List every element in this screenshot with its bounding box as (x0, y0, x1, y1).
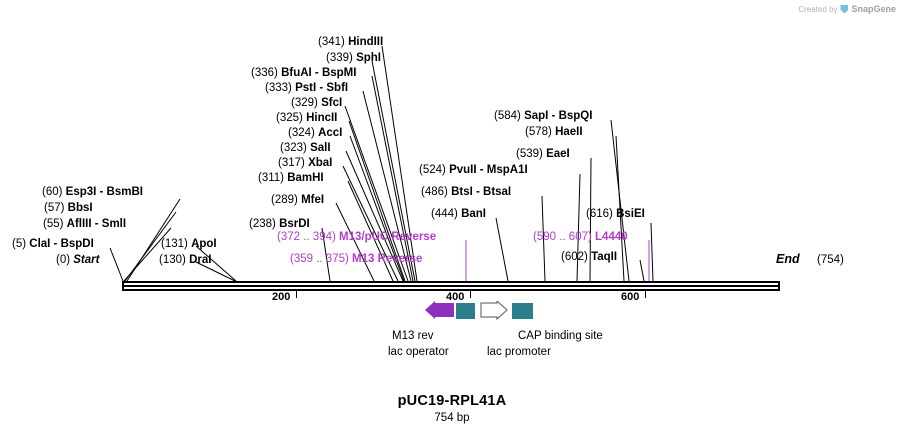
enzyme-position: (289) (271, 194, 298, 206)
enzyme-name: SapI - BspQI (524, 110, 592, 122)
title-block: pUC19-RPL41A 754 bp (0, 393, 904, 424)
enzyme-name: SalI (310, 142, 330, 154)
enzyme-position: (317) (278, 157, 305, 169)
annotation-label-l4440[interactable]: (590 .. 607) L4440 (533, 231, 628, 244)
enzyme-position: (325) (276, 112, 303, 124)
enzyme-position: (539) (516, 148, 543, 160)
feature-glyph-m13-rev[interactable] (425, 301, 455, 325)
enzyme-position: (333) (265, 82, 292, 94)
end-position: (754) (817, 254, 844, 266)
enzyme-label-HaeII[interactable]: (578) HaeII (525, 126, 583, 139)
enzyme-label-PstI[interactable]: (333) PstI - SbfI (265, 82, 348, 95)
enzyme-label-BsiEI[interactable]: (616) BsiEI (586, 208, 645, 221)
enzyme-label-SapI[interactable]: (584) SapI - BspQI (494, 110, 592, 123)
enzyme-position: (616) (586, 208, 613, 220)
feature-label-lac-operator[interactable]: lac operator (388, 346, 449, 358)
enzyme-name: XbaI (308, 157, 332, 169)
end-label: End (776, 252, 800, 266)
enzyme-label-AflIII[interactable]: (55) AflIII - SmlI (43, 218, 126, 231)
enzyme-position: (130) (159, 254, 186, 266)
enzyme-label-BbsI[interactable]: (57) BbsI (44, 202, 93, 215)
enzyme-position: (578) (525, 126, 552, 138)
enzyme-label-HincII[interactable]: (325) HincII (276, 112, 337, 125)
enzyme-position: (323) (280, 142, 307, 154)
enzyme-name: Start (73, 254, 99, 266)
enzyme-position: (584) (494, 110, 521, 122)
tick-mark-600 (645, 291, 646, 298)
enzyme-name: HaeII (555, 126, 583, 138)
tick-mark-200 (296, 291, 297, 298)
annotation-range: (590 .. 607) (533, 231, 592, 243)
enzyme-label-BamHI[interactable]: (311) BamHI (258, 172, 324, 185)
enzyme-position: (5) (12, 238, 26, 250)
tick-mark-400 (470, 291, 471, 298)
annotation-label-m13-puc-reverse[interactable]: (372 .. 394) M13/pUC Reverse (277, 231, 436, 244)
enzyme-position: (55) (43, 218, 63, 230)
enzyme-position: (238) (249, 218, 276, 230)
enzyme-name: BsiEI (616, 208, 645, 220)
enzyme-position: (324) (288, 127, 315, 139)
enzyme-label-BanI[interactable]: (444) BanI (431, 208, 486, 221)
enzyme-label-SphI[interactable]: (339) SphI (326, 52, 381, 65)
enzyme-name: PvuII - MspA1I (449, 164, 528, 176)
feature-label-m13-rev[interactable]: M13 rev (392, 330, 434, 342)
plasmid-name: pUC19-RPL41A (0, 393, 904, 409)
enzyme-name: SfcI (321, 97, 342, 109)
enzyme-name: SphI (356, 52, 381, 64)
enzyme-name: AflIII - SmlI (67, 218, 126, 230)
feature-label-cap-binding-site[interactable]: CAP binding site (518, 330, 603, 342)
enzyme-name: PstI - SbfI (295, 82, 348, 94)
feature-glyph-lac-promoter[interactable] (480, 301, 508, 323)
enzyme-position: (0) (56, 254, 70, 266)
plasmid-size: 754 bp (0, 412, 904, 424)
annotation-range: (359 .. 375) (290, 253, 349, 265)
enzyme-label-EaeI[interactable]: (539) EaeI (516, 148, 570, 161)
enzyme-label-Start[interactable]: (0) Start (56, 254, 99, 267)
snapgene-credit: Created by SnapGene (798, 4, 896, 14)
enzyme-position: (311) (258, 172, 284, 184)
enzyme-label-BfuAI[interactable]: (336) BfuAI - BspMI (251, 67, 356, 80)
feature-glyph-cap-binding-site[interactable] (512, 303, 533, 319)
enzyme-name: MfeI (301, 194, 324, 206)
enzyme-name: AccI (318, 127, 342, 139)
annotation-name: M13 Reverse (352, 253, 422, 265)
enzyme-position: (57) (44, 202, 64, 214)
enzyme-position: (336) (251, 67, 278, 79)
snapgene-brand: SnapGene (851, 4, 896, 14)
enzyme-label-XbaI[interactable]: (317) XbaI (278, 157, 332, 170)
enzyme-label-DraI[interactable]: (130) DraI (159, 254, 211, 267)
enzyme-label-HindIII[interactable]: (341) HindIII (318, 36, 383, 49)
enzyme-name: BfuAI - BspMI (281, 67, 356, 79)
enzyme-label-ClaI[interactable]: (5) ClaI - BspDI (12, 238, 94, 251)
enzyme-name: BtsI - BtsaI (451, 186, 511, 198)
enzyme-position: (486) (421, 186, 448, 198)
enzyme-name: HindIII (348, 36, 383, 48)
enzyme-position: (131) (161, 238, 188, 250)
enzyme-name: ApoI (191, 238, 217, 250)
enzyme-position: (444) (431, 208, 458, 220)
plasmid-map-canvas: Created by SnapGene (0, 0, 904, 434)
enzyme-label-MfeI[interactable]: (289) MfeI (271, 194, 324, 207)
snapgene-logo-icon (840, 5, 848, 14)
plasmid-backbone-core (124, 285, 778, 287)
enzyme-name: Esp3I - BsmBI (66, 186, 143, 198)
enzyme-name: ClaI - BspDI (29, 238, 94, 250)
enzyme-position: (341) (318, 36, 345, 48)
enzyme-position: (524) (419, 164, 446, 176)
enzyme-label-AccI[interactable]: (324) AccI (288, 127, 342, 140)
enzyme-label-SalI[interactable]: (323) SalI (280, 142, 331, 155)
enzyme-label-BsrDI[interactable]: (238) BsrDI (249, 218, 310, 231)
enzyme-position: (602) (561, 251, 588, 263)
enzyme-name: BanI (461, 208, 486, 220)
credit-prefix: Created by (798, 5, 837, 14)
annotation-name: M13/pUC Reverse (339, 231, 436, 243)
enzyme-position: (339) (326, 52, 353, 64)
enzyme-label-Esp3I[interactable]: (60) Esp3I - BsmBI (42, 186, 143, 199)
enzyme-name: BsrDI (279, 218, 310, 230)
enzyme-label-TaqII[interactable]: (602) TaqII (561, 251, 617, 264)
enzyme-position: (60) (42, 186, 62, 198)
enzyme-name: BamHI (287, 172, 323, 184)
tick-label-200: 200 (272, 291, 290, 303)
enzyme-name: TaqII (591, 251, 617, 263)
annotation-label-m13-reverse[interactable]: (359 .. 375) M13 Reverse (290, 253, 422, 266)
enzyme-position: (329) (291, 97, 318, 109)
enzyme-label-PvuII[interactable]: (524) PvuII - MspA1I (419, 164, 528, 177)
feature-label-lac-promoter[interactable]: lac promoter (487, 346, 551, 358)
annotation-range: (372 .. 394) (277, 231, 336, 243)
enzyme-name: BbsI (68, 202, 93, 214)
enzyme-name: HincII (306, 112, 337, 124)
enzyme-name: DraI (189, 254, 211, 266)
annotation-name: L4440 (595, 231, 628, 243)
tick-label-600: 600 (621, 291, 639, 303)
enzyme-label-SfcI[interactable]: (329) SfcI (291, 97, 342, 110)
feature-glyph-lac-operator[interactable] (456, 303, 475, 319)
enzyme-label-BtsI[interactable]: (486) BtsI - BtsaI (421, 186, 511, 199)
enzyme-label-ApoI[interactable]: (131) ApoI (161, 238, 217, 251)
enzyme-name: EaeI (546, 148, 570, 160)
